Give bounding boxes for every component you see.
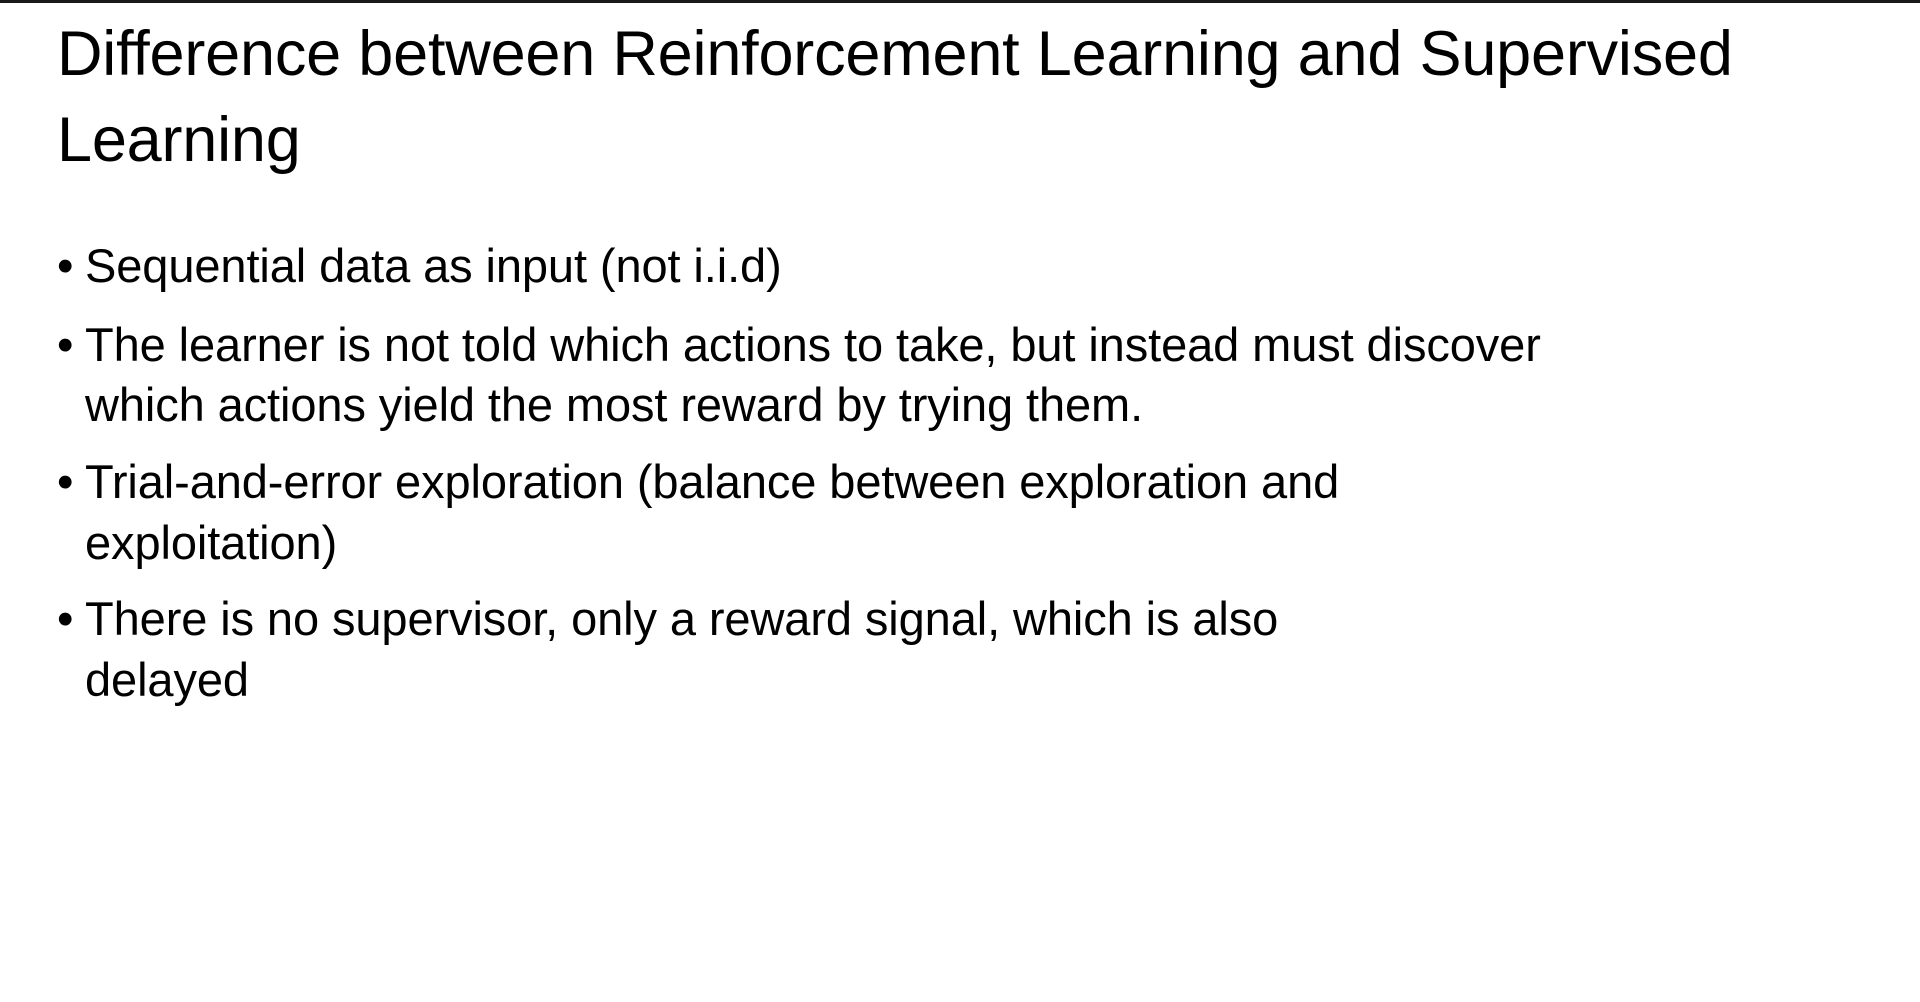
list-item-text: Sequential data as input (not i.i.d) bbox=[85, 236, 1585, 297]
bullet-point-icon: • bbox=[44, 236, 85, 297]
page-title: Difference between Reinforcement Learnin… bbox=[57, 12, 1857, 183]
list-item: • The learner is not told which actions … bbox=[44, 315, 1884, 436]
list-item: • Sequential data as input (not i.i.d) bbox=[44, 236, 1884, 297]
bullet-point-icon: • bbox=[44, 589, 85, 650]
presentation-slide: Difference between Reinforcement Learnin… bbox=[0, 0, 1920, 1002]
list-item-text: The learner is not told which actions to… bbox=[85, 315, 1553, 436]
slide-top-border bbox=[0, 0, 1920, 3]
list-item-text: There is no supervisor, only a reward si… bbox=[85, 589, 1425, 710]
bullet-point-icon: • bbox=[44, 315, 85, 376]
slide-title-block: Difference between Reinforcement Learnin… bbox=[57, 12, 1857, 183]
list-item-text: Trial-and-error exploration (balance bet… bbox=[85, 452, 1537, 573]
bullet-point-icon: • bbox=[44, 452, 85, 513]
list-item: • There is no supervisor, only a reward … bbox=[44, 589, 1884, 710]
slide-body-content: • Sequential data as input (not i.i.d) •… bbox=[44, 236, 1884, 724]
list-item: • Trial-and-error exploration (balance b… bbox=[44, 452, 1884, 573]
